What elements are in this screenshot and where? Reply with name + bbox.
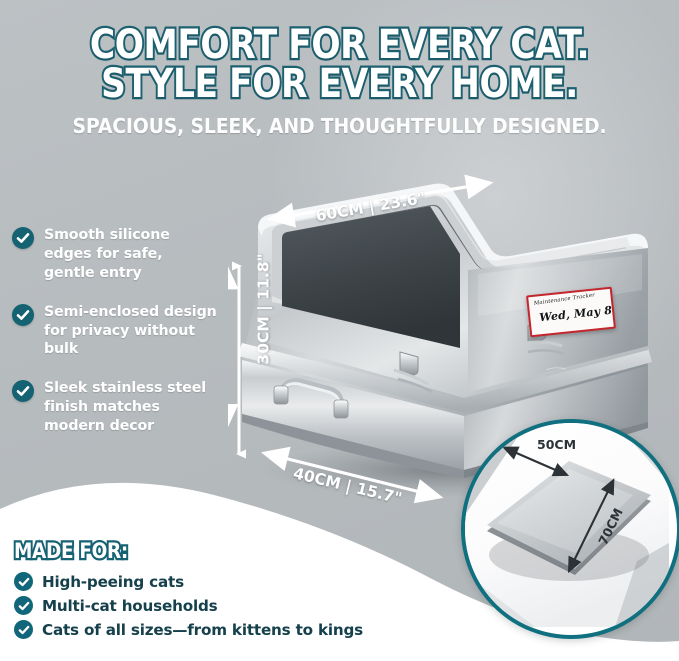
page-title: COMFORT FOR EVERY CAT. STYLE FOR EVERY H… [48,26,632,104]
feature-label: Semi-enclosed design for privacy without… [44,303,217,360]
headline-line-1: COMFORT FOR EVERY CAT. [48,26,632,65]
dimension-height-label: 30CM | 11.8" [255,253,273,364]
feature-list: Smooth silicone edges for safe, gentle e… [12,226,217,456]
made-for-title: MADE FOR: [14,539,128,563]
made-for-item: High-peeing cats [14,572,534,591]
feature-label: Sleek stainless steel finish matches mod… [44,379,217,436]
feature-label: Smooth silicone edges for safe, gentle e… [44,226,217,283]
made-for-item: Multi-cat households [14,596,534,615]
made-for-label: High-peeing cats [42,573,184,591]
check-circle-icon [12,304,34,326]
header-block: COMFORT FOR EVERY CAT. STYLE FOR EVERY H… [0,26,679,138]
made-for-label: Multi-cat households [42,597,217,615]
subheadline: SPACIOUS, SLEEK, AND THOUGHTFULLY DESIGN… [27,114,652,138]
made-for-item: Cats of all sizes—from kittens to kings [14,620,534,639]
check-circle-icon [14,596,33,615]
feature-item: Smooth silicone edges for safe, gentle e… [12,226,217,283]
maintenance-tracker-label: Maintenance Tracker Wed, May 8 [526,287,616,338]
mat-width-label: 50CM [537,437,576,452]
feature-item: Sleek stainless steel finish matches mod… [12,379,217,436]
check-circle-icon [14,620,33,639]
check-circle-icon [12,380,34,402]
check-circle-icon [14,572,33,591]
made-for-label: Cats of all sizes—from kittens to kings [42,621,363,639]
made-for-block: MADE FOR: High-peeing cats Multi-cat hou… [14,539,534,644]
feature-item: Semi-enclosed design for privacy without… [12,303,217,360]
headline-line-2: STYLE FOR EVERY HOME. [48,65,632,104]
product-infographic: COMFORT FOR EVERY CAT. STYLE FOR EVERY H… [0,0,679,661]
check-circle-icon [12,227,34,249]
